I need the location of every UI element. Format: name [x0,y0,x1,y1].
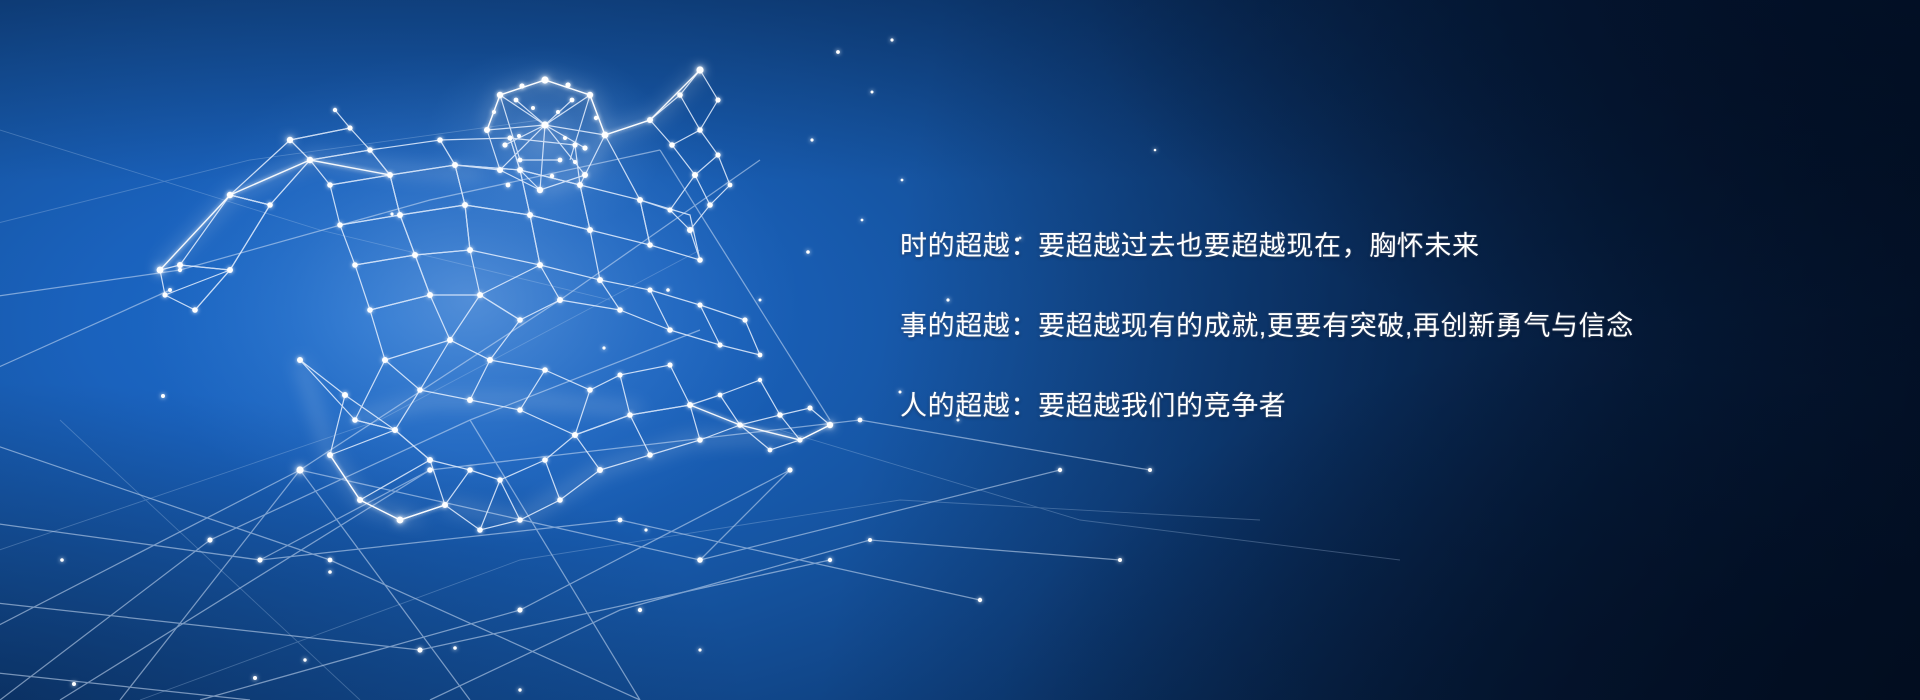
hero-banner: 时的超越：要超越过去也要超越现在，胸怀未来 事的超越：要超越现有的成就,更要有突… [0,0,1920,700]
figure-halo [140,45,800,550]
hero-copy-block: 时的超越：要超越过去也要超越现在，胸怀未来 事的超越：要超越现有的成就,更要有突… [900,232,1520,421]
hero-copy-line-1: 时的超越：要超越过去也要超越现在，胸怀未来 [900,232,1520,261]
hero-copy-line-2: 事的超越：要超越现有的成就,更要有突破,再创新勇气与信念 [900,312,1520,341]
hero-copy-line-3: 人的超越：要超越我们的竞争者 [900,392,1520,421]
